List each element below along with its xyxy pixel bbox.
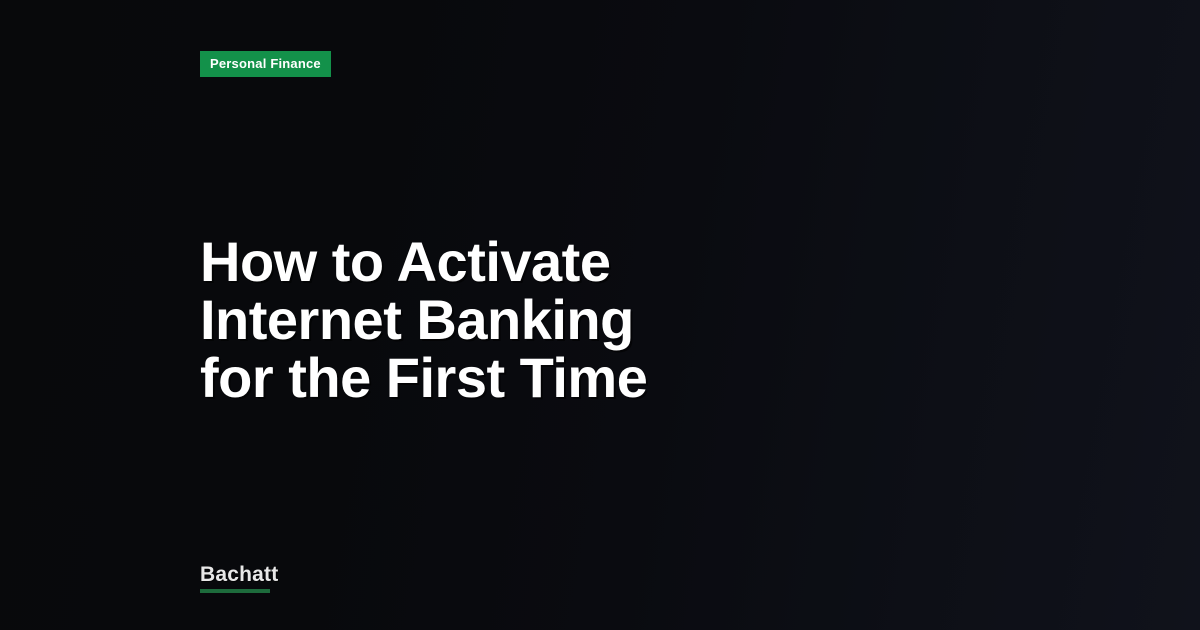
social-share-card: Personal Finance How to Activate Interne…: [0, 0, 1200, 630]
page-title: How to Activate Internet Banking for the…: [200, 233, 960, 407]
status-badge: Personal Finance: [200, 51, 331, 77]
category-badge-row: Personal Finance: [200, 51, 331, 77]
brand-name-label: Bachatt: [200, 563, 278, 587]
page-title-line-2: Internet Banking: [200, 291, 960, 349]
page-title-line-3: for the First Time: [200, 349, 960, 407]
brand-logo: Bachatt: [200, 563, 278, 593]
brand-underline-accent: [200, 589, 270, 593]
page-title-line-1: How to Activate: [200, 233, 960, 291]
